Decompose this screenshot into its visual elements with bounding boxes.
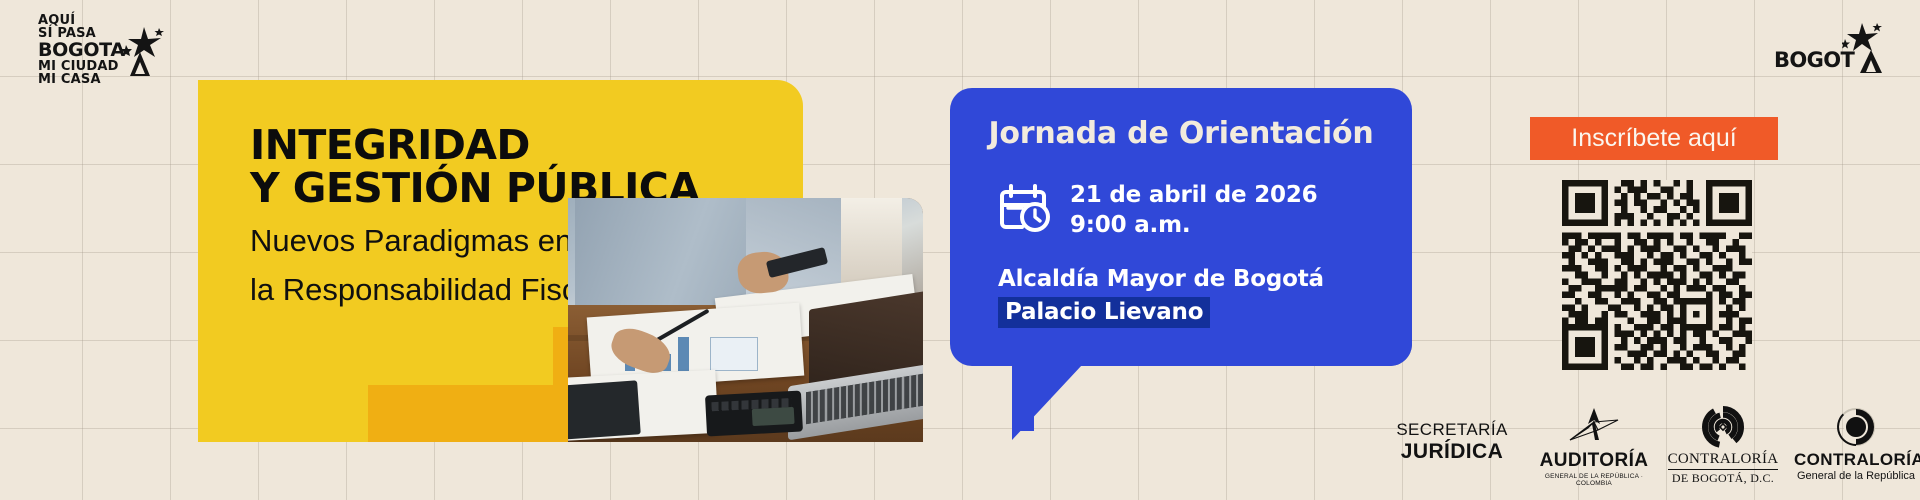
bogota-wordmark: BOGOT: [1774, 48, 1854, 72]
calendar-clock-icon: [1000, 184, 1054, 234]
qr-code[interactable]: [1562, 180, 1752, 370]
spiral-icon: [1699, 406, 1747, 448]
event-venue-line2: Palacio Lievano: [998, 297, 1210, 328]
bogota-wedge-icon: [130, 52, 150, 76]
speech-bubble-tail-stem: [1012, 365, 1034, 431]
arrow-star-icon: [1568, 406, 1620, 448]
logo-contraloria-general: CONTRALORÍA General de la República: [1794, 406, 1918, 482]
logo-secretaria-juridica: SECRETARÍA JURÍDICA: [1396, 420, 1508, 464]
register-button[interactable]: Inscríbete aquí: [1530, 117, 1778, 160]
event-banner: AQUÍ SÍ PASA BOGOTA MI CIUDAD MI CASA BO…: [0, 0, 1920, 500]
logo-contraloria-bogota-bottom: DE BOGOTÁ, D.C.: [1664, 471, 1782, 486]
circle-ring-icon: [1833, 406, 1879, 448]
logo-auditoria-general: AUDITORÍA GENERAL DE LA REPÚBLICA · COLO…: [1532, 406, 1656, 487]
event-title: Jornada de Orientación: [950, 116, 1412, 151]
logo-auditoria-tiny: GENERAL DE LA REPÚBLICA · COLOMBIA: [1532, 473, 1656, 487]
logo-secretaria-juridica-bottom: JURÍDICA: [1396, 440, 1508, 464]
event-date: 21 de abril de 2026: [1070, 180, 1317, 210]
photo-chart-bar: [678, 337, 689, 371]
event-datetime: 21 de abril de 2026 9:00 a.m.: [1070, 180, 1317, 241]
event-details-bubble: Jornada de Orientación 21 de abril de 20…: [950, 88, 1412, 366]
logo-contraloria-bogota-top: CONTRALORÍA: [1668, 451, 1779, 470]
photo-chart-box: [710, 337, 758, 371]
photo-notebook: [568, 381, 641, 440]
bogota-logo-right: BOGOT: [1774, 22, 1884, 74]
photo-calculator: [705, 391, 803, 437]
bogota-wedge-icon: [1860, 50, 1882, 73]
register-button-label: Inscríbete aquí: [1571, 124, 1736, 153]
logo-contraloria-bogota: CONTRALORÍA DE BOGOTÁ, D.C.: [1664, 406, 1782, 486]
logo-contraloria-general-bottom: CONTRALORÍA: [1794, 450, 1918, 470]
headline-line1: INTEGRIDAD: [250, 124, 790, 167]
logo-auditoria-bottom: AUDITORÍA: [1532, 450, 1656, 472]
photo-scene: [568, 198, 923, 442]
logo-contraloria-general-sub: General de la República: [1794, 470, 1918, 482]
partner-logos: SECRETARÍA JURÍDICA AUDITORÍA GENERAL DE…: [1396, 404, 1906, 492]
office-photo: [568, 198, 923, 442]
logo-secretaria-juridica-top: SECRETARÍA: [1396, 420, 1508, 440]
bogota-city-brand-left: AQUÍ SÍ PASA BOGOTA MI CIUDAD MI CASA: [38, 14, 168, 92]
event-venue-line1: Alcaldía Mayor de Bogotá: [998, 266, 1324, 292]
event-time: 9:00 a.m.: [1070, 210, 1317, 240]
